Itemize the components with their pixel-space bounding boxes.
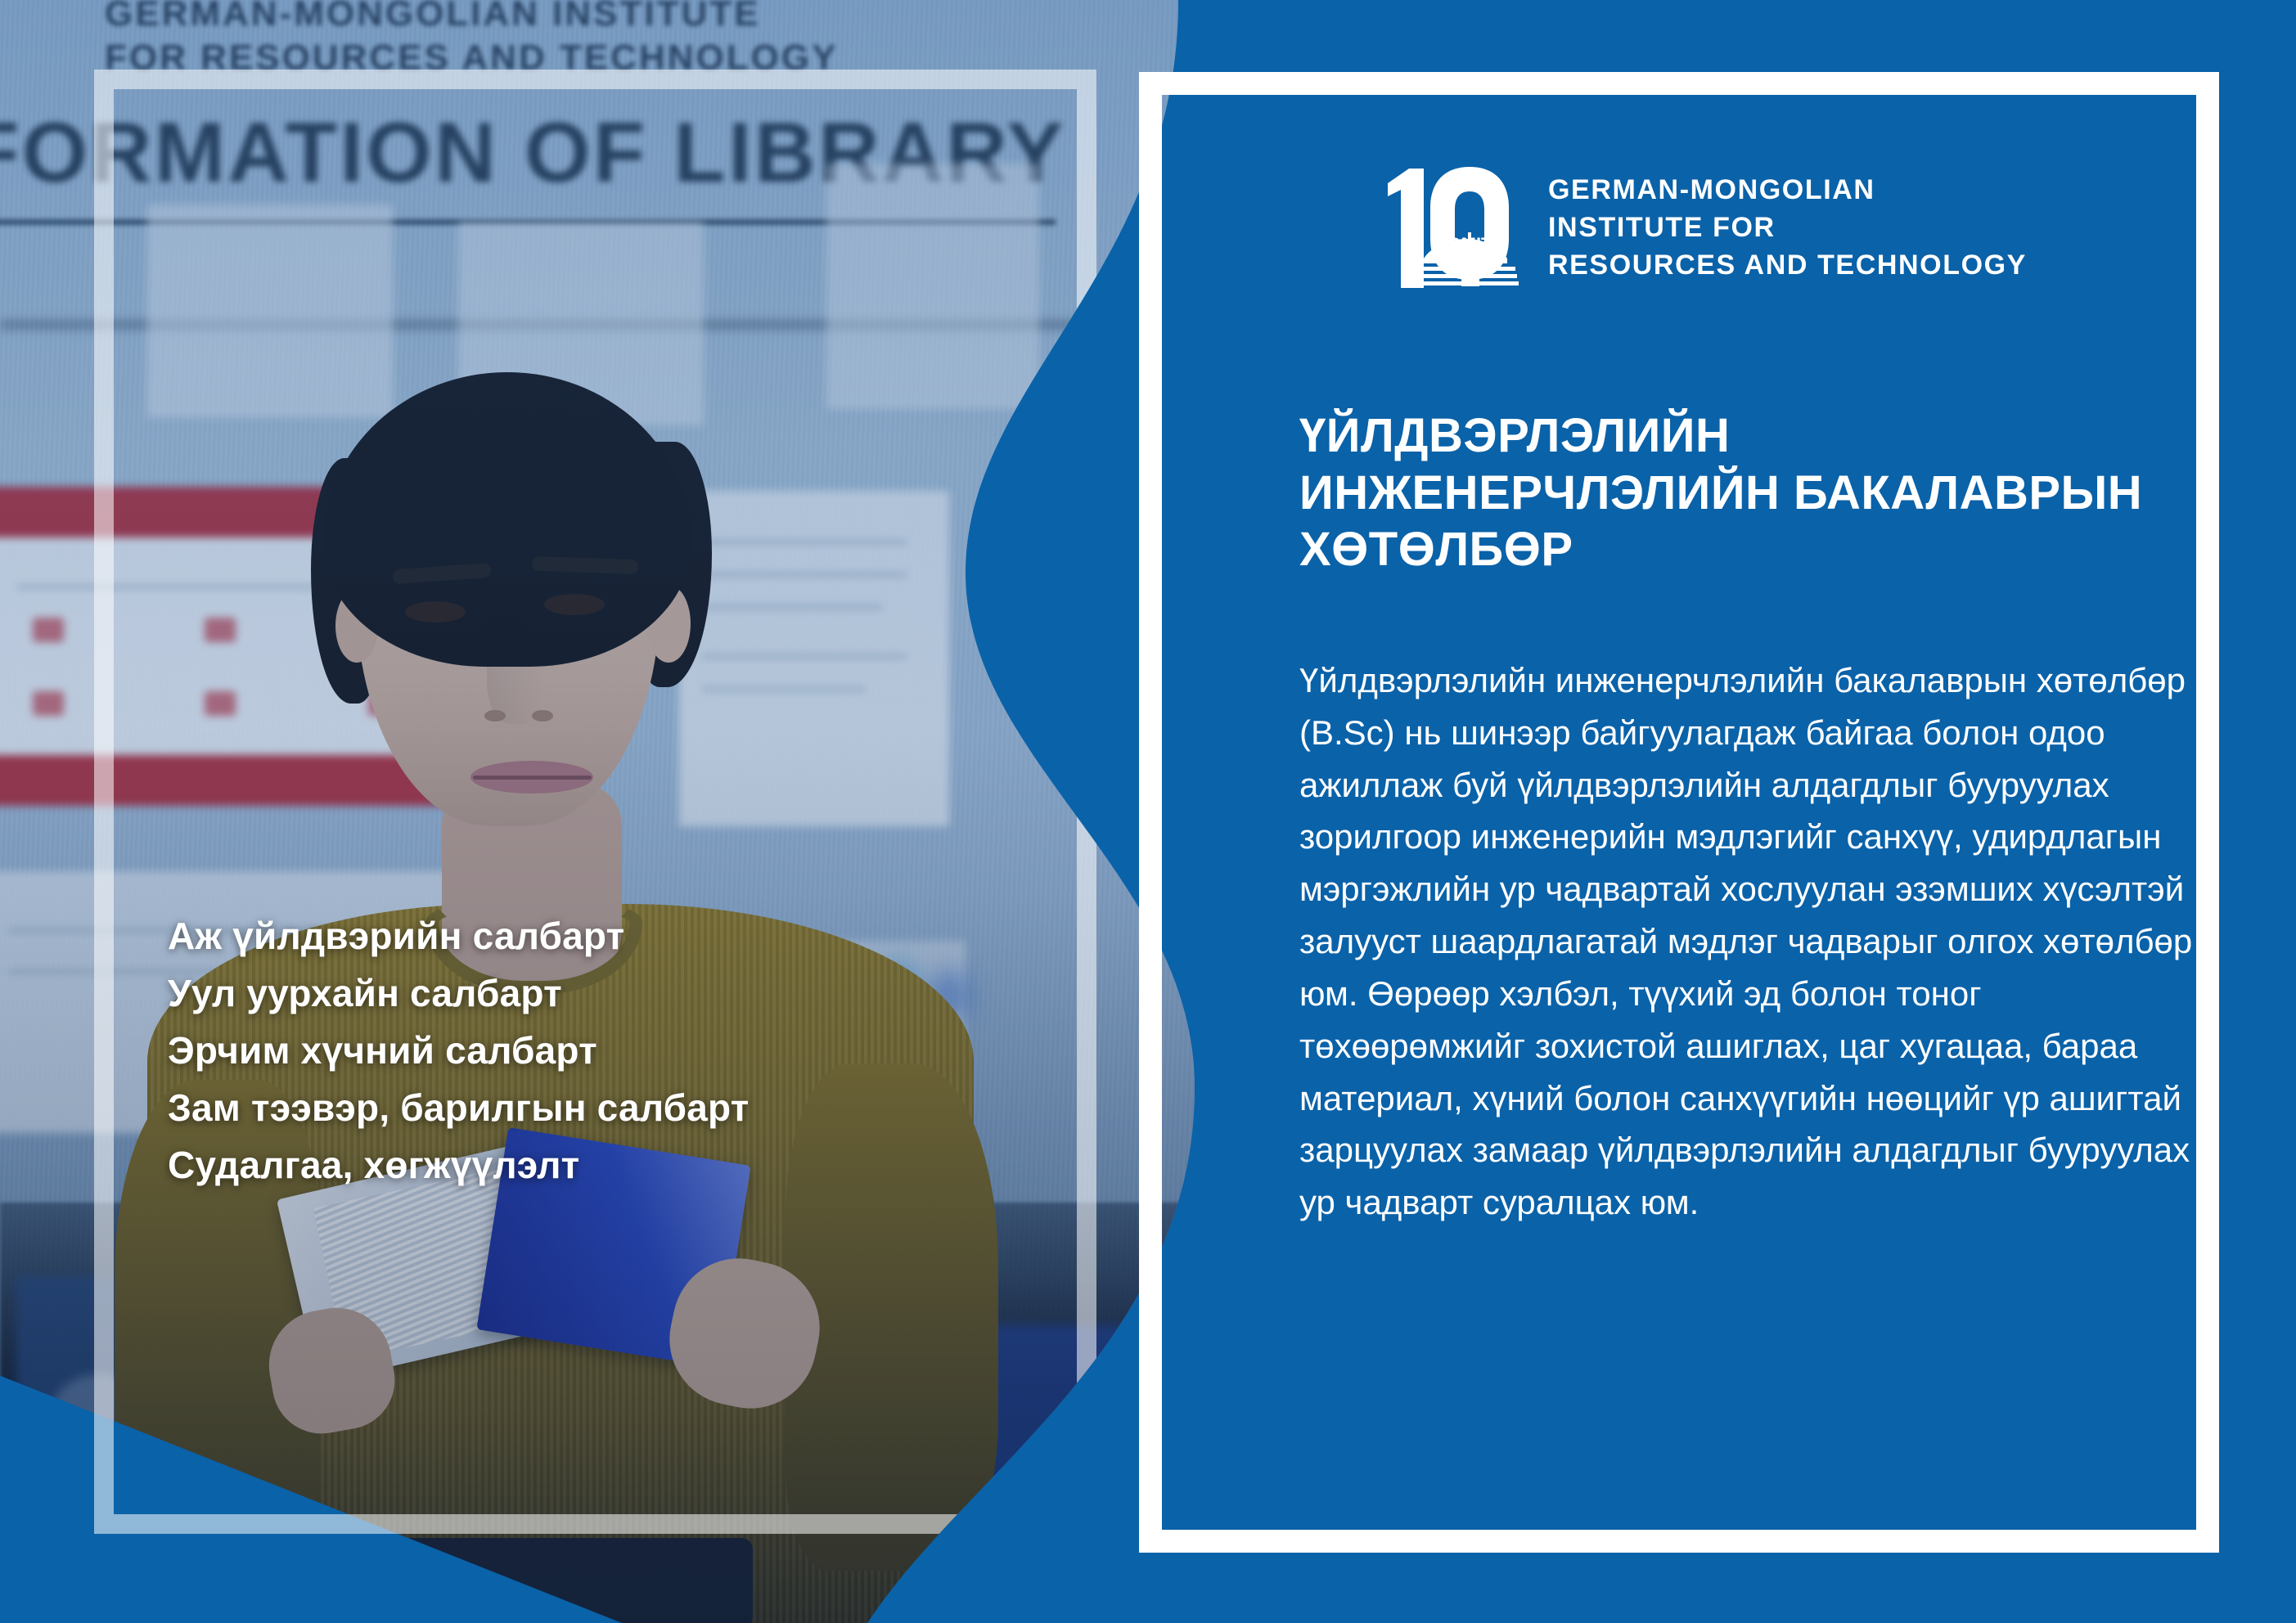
page-title: ҮЙЛДВЭРЛЭЛИЙН ИНЖЕНЕРЧЛЭЛИЙН БАКАЛАВРЫН … [1299, 407, 2191, 578]
sector-list-item: Зам тээвэр, барилгын салбарт [168, 1080, 953, 1137]
sector-list-item: Судалгаа, хөгжүүлэлт [168, 1137, 953, 1194]
sector-list-item: Уул уурхайн салбарт [168, 965, 953, 1023]
institute-name: GERMAN-MONGOLIAN INSTITUTE FOR RESOURCES… [1548, 171, 2027, 285]
photo-blue-tint [0, 0, 1203, 1623]
sector-list-item: Эрчим хүчний салбарт [168, 1023, 953, 1080]
gmit-anniversary-logo-icon: GMIT [1381, 160, 1519, 294]
sector-list-item: Аж үйлдвэрийн салбарт [168, 908, 953, 965]
sector-list: Аж үйлдвэрийн салбарт Уул уурхайн салбар… [168, 908, 953, 1194]
institute-logo: GMIT GERMAN-MONGOLIAN INSTITUTE FOR RESO… [1381, 160, 2027, 294]
svg-text:GMIT: GMIT [1447, 234, 1493, 254]
program-description: Үйлдвэрлэлийн инженерчлэлийн бакалаврын … [1299, 654, 2204, 1229]
hero-photo: GERMAN-MONGOLIAN INSTITUTE FOR RESOURCES… [0, 0, 1203, 1623]
